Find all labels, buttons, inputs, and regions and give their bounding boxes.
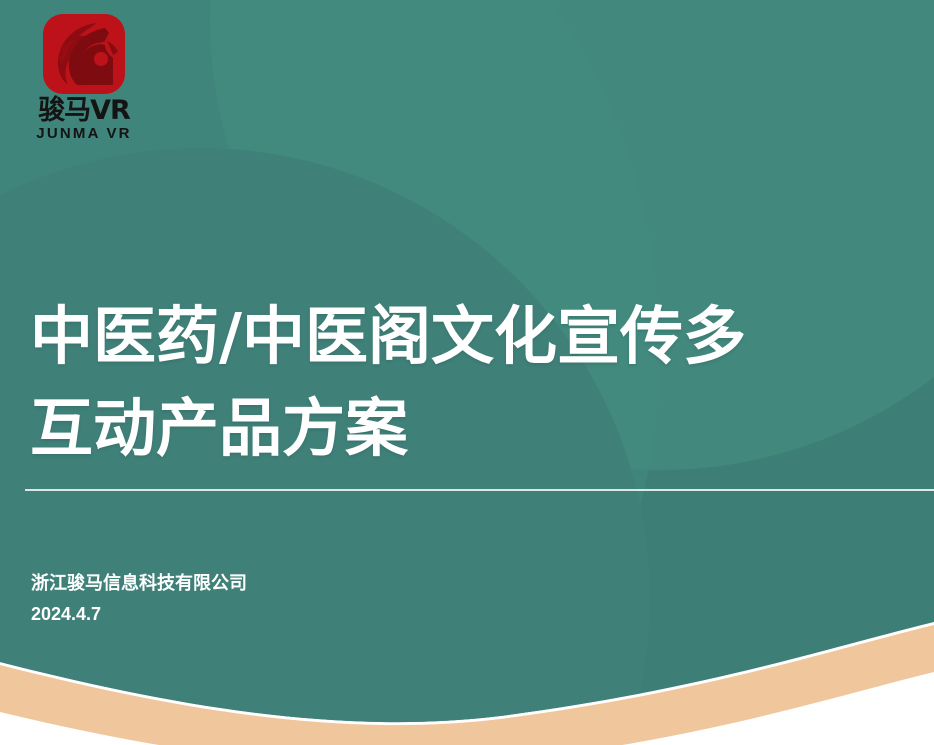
page-title: 中医药/中医阁文化宣传多 互动产品方案 — [30, 291, 934, 475]
junma-vr-horse-logo-icon — [43, 14, 125, 94]
slide-footer: 浙江骏马信息科技有限公司 2024.4.7 — [31, 569, 247, 629]
company-name: 浙江骏马信息科技有限公司 — [31, 569, 247, 599]
title-slide: 骏马VR JUNMA VR 中医药/中医阁文化宣传多 互动产品方案 浙江骏马信息… — [0, 0, 934, 745]
slide-date: 2024.4.7 — [31, 599, 247, 629]
page-title-line-2: 互动产品方案 — [30, 383, 934, 475]
company-logo: 骏马VR JUNMA VR — [14, 14, 154, 143]
logo-chinese-text: 骏马VR — [14, 97, 154, 125]
title-divider-line — [25, 489, 934, 491]
page-title-line-1: 中医药/中医阁文化宣传多 — [30, 291, 934, 383]
logo-english-text: JUNMA VR — [14, 125, 154, 143]
